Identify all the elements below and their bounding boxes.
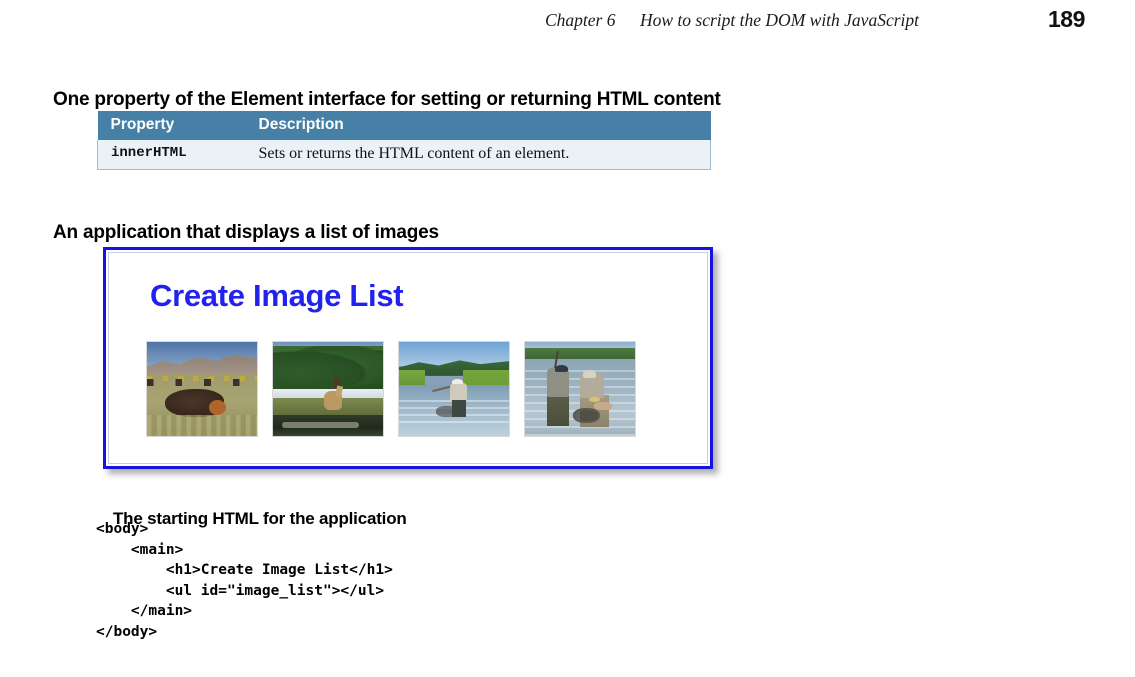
property-table-heading: One property of the Element interface fo… xyxy=(53,89,721,111)
distant-herd xyxy=(147,379,257,387)
landing-net xyxy=(573,408,599,423)
angler-river-photo xyxy=(398,341,510,437)
property-table-head: Property Description xyxy=(98,111,711,140)
angler-hat xyxy=(452,379,463,385)
first-angler-torso xyxy=(547,368,569,396)
column-header-property: Property xyxy=(98,111,246,140)
first-angler-cap xyxy=(555,365,568,373)
cell-property-description: Sets or returns the HTML content of an e… xyxy=(246,140,711,170)
property-table: Property Description innerHTML Sets or r… xyxy=(97,111,711,170)
tree-canopy xyxy=(273,346,383,391)
angler-waders xyxy=(452,400,466,417)
bison-meadow-photo xyxy=(146,341,258,437)
application-screenshot: Create Image List xyxy=(103,247,713,469)
code-content: <body> <main> <h1>Create Image List</h1>… xyxy=(96,521,393,640)
column-header-description: Description xyxy=(246,111,711,140)
two-anglers-photo xyxy=(524,341,636,437)
application-heading: An application that displays a list of i… xyxy=(53,222,439,244)
image-list xyxy=(146,341,636,437)
table-row: innerHTML Sets or returns the HTML conte… xyxy=(98,140,711,170)
first-angler-waders xyxy=(547,394,569,426)
deer-trees-photo xyxy=(272,341,384,437)
page-number: 189 xyxy=(1048,6,1085,33)
extended-arm xyxy=(594,402,612,410)
table-header-row: Property Description xyxy=(98,111,711,140)
running-head: Chapter 6 How to script the DOM with Jav… xyxy=(0,8,1135,38)
starting-html-code: <body> <main> <h1>Create Image List</h1>… xyxy=(96,520,393,643)
running-head-chapter-label: Chapter 6 xyxy=(545,10,616,31)
running-head-chapter-title: How to script the DOM with JavaScript xyxy=(640,10,919,31)
property-table-body: innerHTML Sets or returns the HTML conte… xyxy=(98,140,711,170)
second-angler-hat xyxy=(583,370,596,378)
fallen-log xyxy=(282,422,359,429)
application-viewport: Create Image List xyxy=(108,252,708,464)
cell-property-name: innerHTML xyxy=(98,140,246,170)
foreground-grass xyxy=(147,415,257,436)
application-page-title: Create Image List xyxy=(150,278,403,314)
